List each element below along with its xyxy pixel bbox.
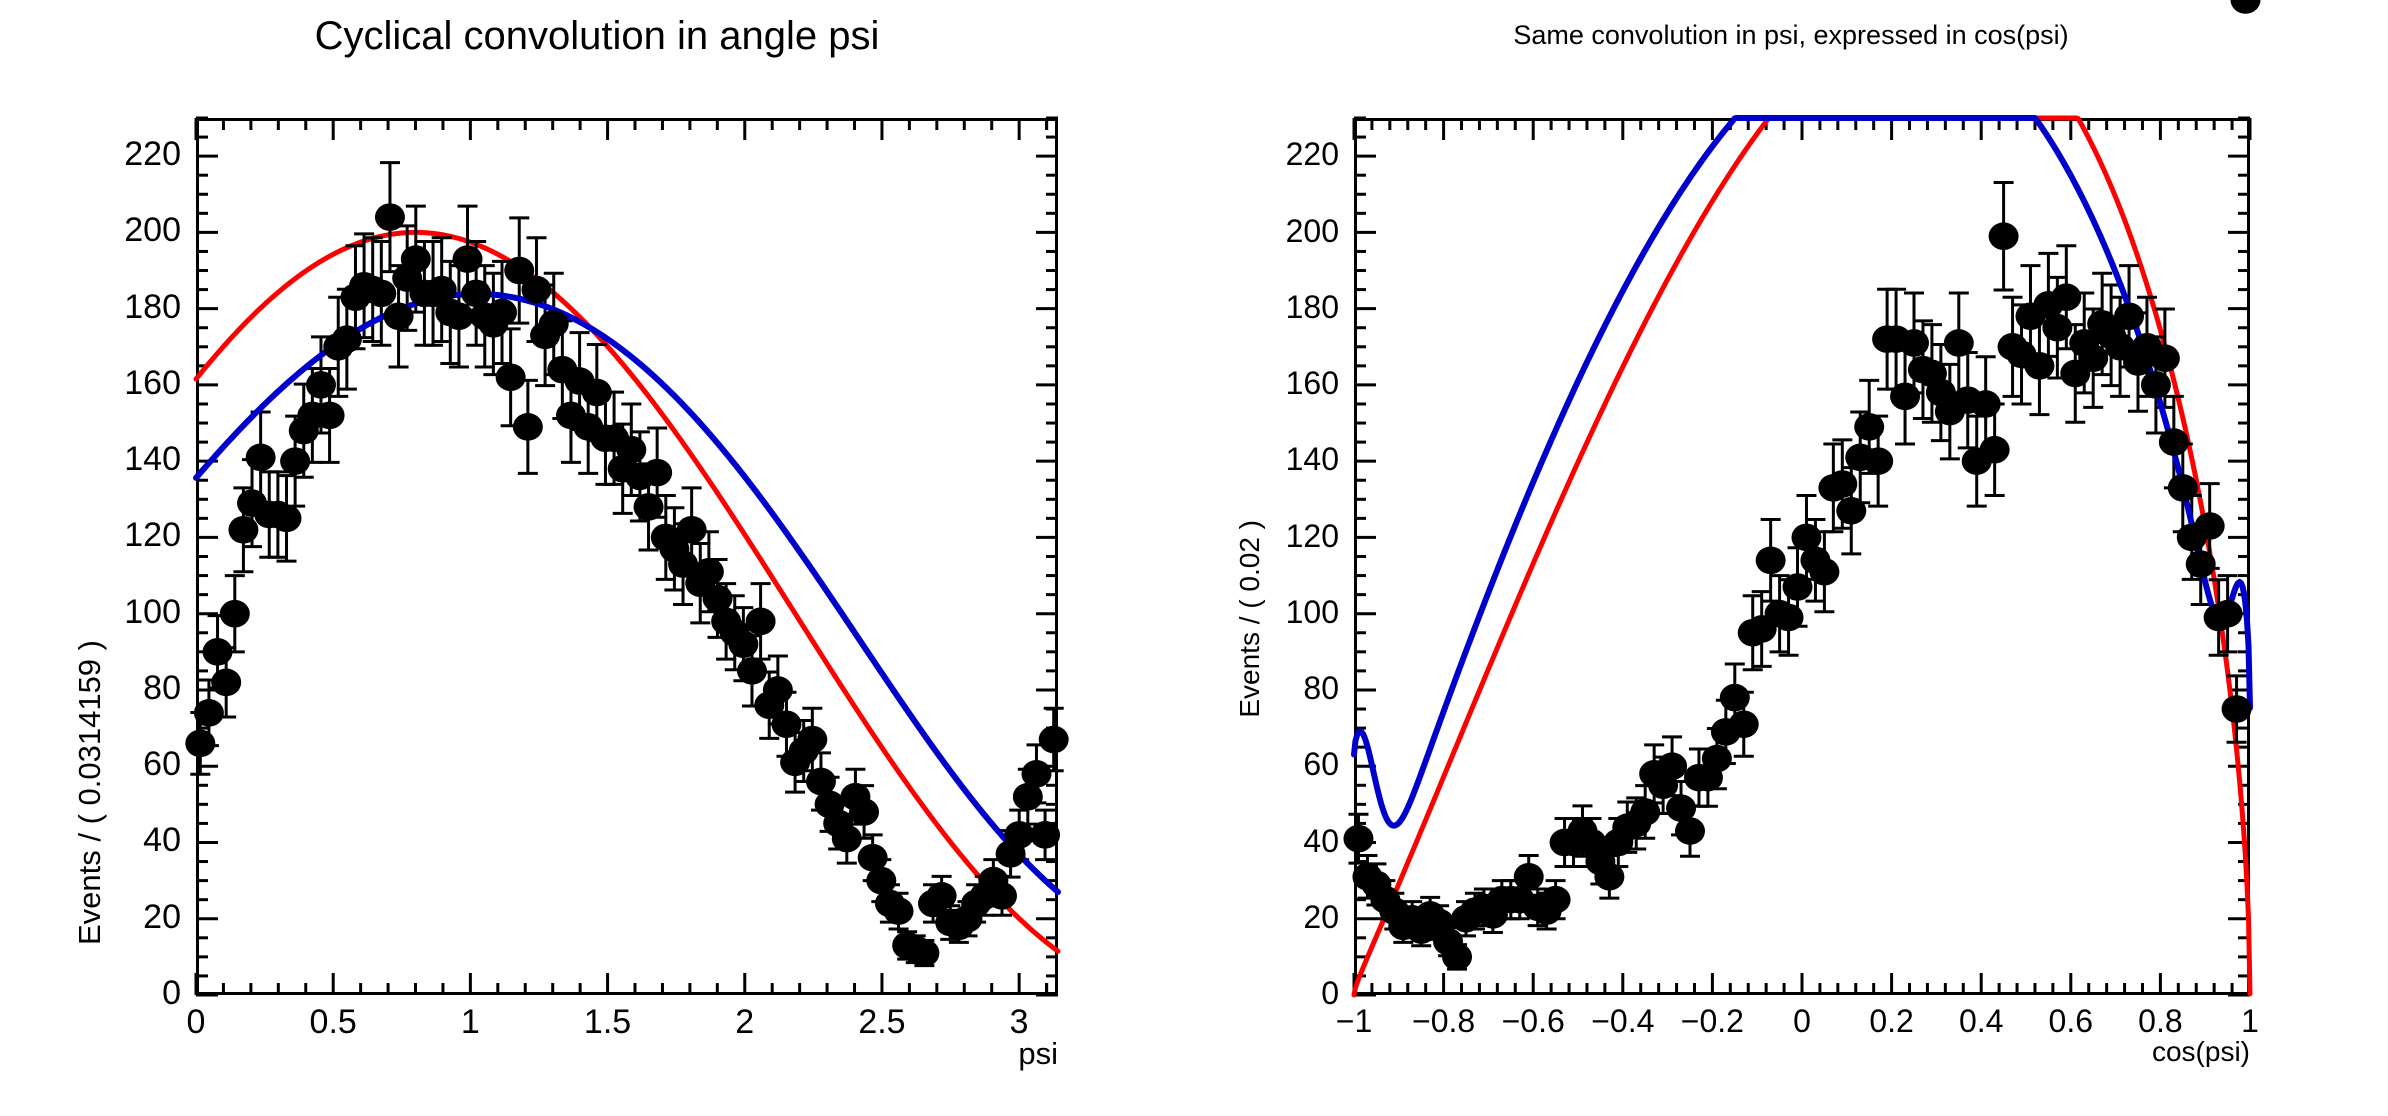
y-tick-label: 20 [51,898,181,937]
y-tick-label: 220 [51,135,181,174]
pad-left: Cyclical convolution in angle psi Events… [0,0,1194,1116]
y-tick-label: 180 [1209,289,1339,326]
x-tick-label: 0.5 [273,1003,393,1042]
right-plot-graphics [1194,0,2388,1116]
y-tick-label: 60 [1209,746,1339,783]
x-tick-label: 3 [959,1003,1079,1042]
y-tick-label: 160 [51,364,181,403]
y-tick-label: 140 [1209,441,1339,478]
y-tick-label: 100 [51,593,181,632]
y-tick-label: 20 [1209,899,1339,936]
axis-ticks [196,118,1058,995]
x-tick-label: 0 [136,1003,256,1042]
error-bars [1348,0,2255,969]
y-tick-label: 80 [1209,670,1339,707]
x-tick-label: 2 [685,1003,805,1042]
data-points [1343,0,2260,971]
y-tick-label: 220 [1209,136,1339,173]
y-tick-label: 40 [1209,823,1339,860]
y-tick-label: 160 [1209,365,1339,402]
error-bars [190,163,1063,966]
y-tick-label: 200 [1209,213,1339,250]
convolved-fit-curve [1354,118,2250,826]
y-tick-label: 200 [51,211,181,250]
y-tick-label: 120 [1209,518,1339,555]
x-tick-label: 1.5 [548,1003,668,1042]
y-tick-label: 100 [1209,594,1339,631]
x-tick-label: 1 [2190,1003,2310,1040]
y-tick-label: 140 [51,440,181,479]
y-tick-label: 40 [51,821,181,860]
root-canvas: Cyclical convolution in angle psi Events… [0,0,2388,1116]
x-tick-label: 1 [410,1003,530,1042]
y-tick-label: 80 [51,669,181,708]
x-tick-label: 2.5 [822,1003,942,1042]
y-tick-label: 180 [51,288,181,327]
pad-right: Same convolution in psi, expressed in co… [1194,0,2388,1116]
y-tick-label: 60 [51,745,181,784]
data-points [185,203,1068,967]
y-tick-label: 120 [51,516,181,555]
